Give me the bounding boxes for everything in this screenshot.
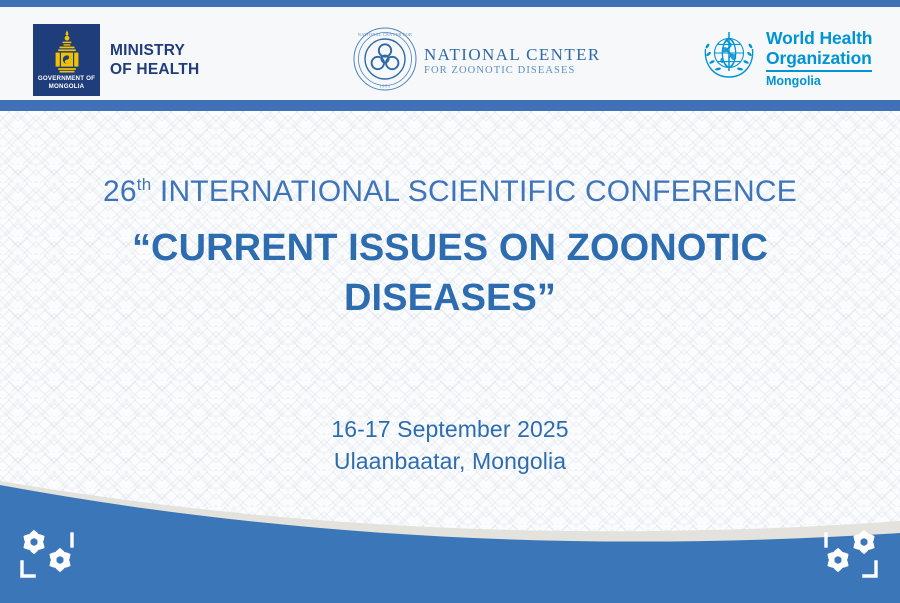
who-name-line1: World Health: [766, 29, 872, 49]
who-name: World Health Organization Mongolia: [766, 29, 872, 88]
ministry-name: MINISTRY OF HEALTH: [110, 41, 199, 79]
edition-ordinal: th: [137, 175, 152, 194]
soyombo-icon: [50, 29, 84, 80]
conference-edition-line: 26th INTERNATIONAL SCIENTIFIC CONFERENCE: [0, 172, 900, 212]
bottom-wave-decoration: [0, 463, 900, 603]
conference-title-slide: GOVERNMENT OF MONGOLIA MINISTRY OF HEALT…: [0, 0, 900, 603]
title-block: 26th INTERNATIONAL SCIENTIFIC CONFERENCE…: [0, 172, 900, 323]
event-date: 16-17 September 2025: [0, 413, 900, 445]
who-emblem-icon: [700, 27, 758, 90]
svg-text:1951: 1951: [379, 84, 391, 89]
who-logo: World Health Organization Mongolia: [700, 27, 872, 90]
crest-caption-line2: MONGOLIA: [33, 83, 100, 91]
nczd-name-line1: NATIONAL CENTER: [424, 45, 601, 64]
mongolian-knot-icon-right: [808, 524, 886, 584]
who-country-label: Mongolia: [766, 74, 872, 88]
header-logo-band: GOVERNMENT OF MONGOLIA MINISTRY OF HEALT…: [0, 7, 900, 100]
nczd-seal-icon: NATIONAL CENTER FOR 1951: [352, 26, 418, 97]
government-of-mongolia-crest: GOVERNMENT OF MONGOLIA: [33, 24, 100, 96]
ministry-of-health-logo: GOVERNMENT OF MONGOLIA MINISTRY OF HEALT…: [33, 24, 199, 96]
crest-caption: GOVERNMENT OF MONGOLIA: [33, 75, 100, 91]
edition-rest: INTERNATIONAL SCIENTIFIC CONFERENCE: [151, 175, 797, 208]
edition-number: 26: [103, 175, 137, 208]
nczd-logo: NATIONAL CENTER FOR 1951 NATIONAL CENTER…: [352, 26, 601, 97]
page-title: “CURRENT ISSUES ON ZOONOTIC DISEASES”: [0, 223, 900, 323]
svg-text:NATIONAL CENTER FOR: NATIONAL CENTER FOR: [358, 32, 412, 37]
nczd-name: NATIONAL CENTER FOR ZOONOTIC DISEASES: [424, 45, 601, 78]
header-blue-rule: [0, 100, 900, 111]
mongolian-knot-icon-left: [14, 524, 92, 584]
ministry-name-line1: MINISTRY: [110, 41, 199, 60]
nczd-name-line2: FOR ZOONOTIC DISEASES: [424, 64, 601, 78]
ministry-name-line2: OF HEALTH: [110, 60, 199, 79]
who-name-line2: Organization: [766, 49, 872, 69]
who-underline: [766, 70, 872, 72]
top-blue-rule: [0, 0, 900, 7]
crest-caption-line1: GOVERNMENT OF: [33, 75, 100, 83]
